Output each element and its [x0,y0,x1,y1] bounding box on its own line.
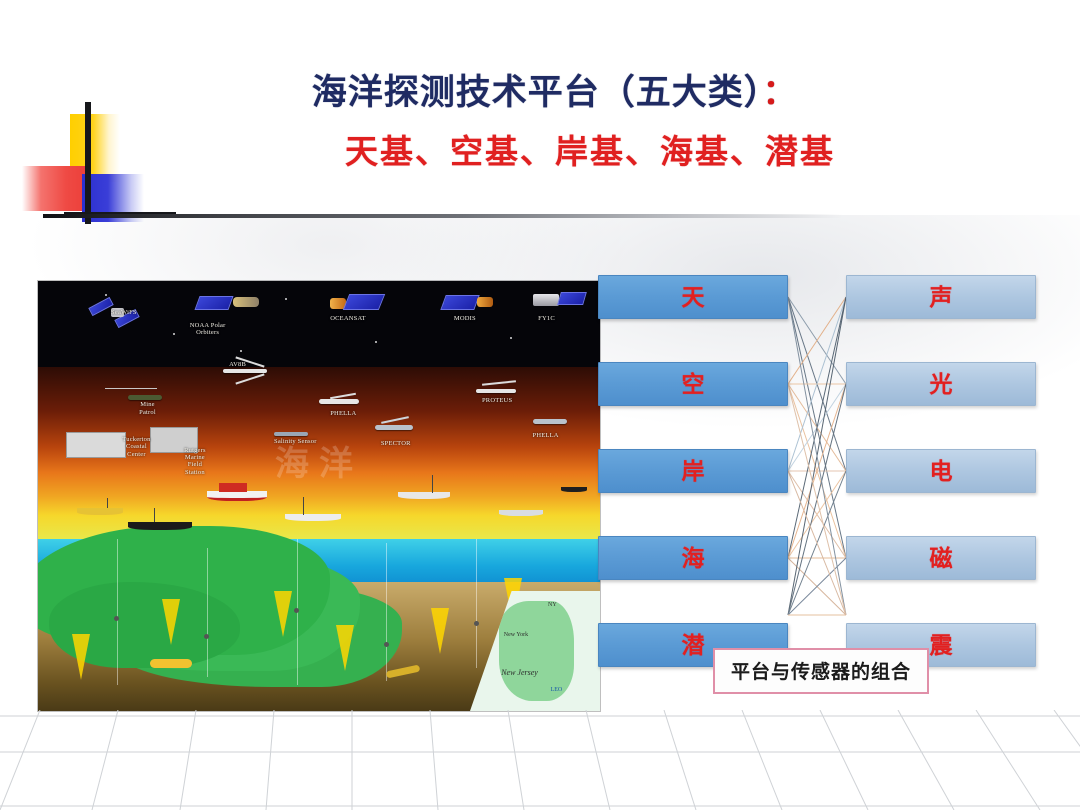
platform-box-hai[interactable]: 海 [598,536,788,580]
acoustic-beam [336,625,354,671]
acoustic-beam [72,634,90,680]
satellite-fy1c [533,290,589,316]
aircraft-proteus [476,389,516,393]
map-label-leo: LEO [551,687,563,693]
acoustic-beam [162,599,180,645]
platform-label: 岸 [682,460,705,483]
label-mine-patrol: Mine Patrol [139,401,156,416]
aircraft-phella [319,399,359,404]
sensor-label: 光 [930,373,953,396]
label-av8b: AV8B [229,361,246,368]
sensor-box-sheng[interactable]: 声 [846,275,1036,319]
satellite-body [533,294,559,306]
satellite-noaa-polar-orbiters [195,294,265,320]
platform-label: 海 [682,547,705,570]
mooring-line [117,539,118,685]
mooring-line [207,548,208,677]
map-label-new-york-region: New York [504,632,528,638]
label-oceansat: OCEANSAT [330,315,366,322]
boat-hull [77,508,123,515]
boat-hull [285,514,341,521]
sensor-label: 磁 [930,547,953,570]
solar-panel [195,296,234,310]
platform-label: 潜 [682,634,705,657]
mooring-line [476,539,477,668]
platform-box-tian[interactable]: 天 [598,275,788,319]
solar-panel [88,297,113,316]
helicopter-mine-patrol [128,395,162,400]
map-label-new-jersey: New Jersey [501,668,538,677]
title-divider [43,214,843,218]
sensor-column: 声 光 电 磁 震 [846,275,1036,667]
boat-mast [107,498,108,508]
coastal-center-building [66,432,126,458]
platform-sensor-diagram: 天 空 岸 海 潜 声 光 电 磁 震 平台与传感器的组合 [598,275,1038,695]
acoustic-beam [274,591,292,637]
label-phella: PHELLA [330,410,356,417]
boat-yellow [77,505,123,515]
sensor-node [204,634,209,639]
star-dot [510,337,512,339]
sensor-node [474,621,479,626]
perspective-floor-grid [0,710,1080,810]
label-seawifs: SeaWiFS [111,309,137,316]
platform-box-an[interactable]: 岸 [598,449,788,493]
satellite-body [477,297,493,307]
title-block: 海洋探测技术平台（五大类）： 天基、空基、岸基、海基、潜基 [0,72,1080,174]
aircraft-av8b [223,369,267,373]
sensor-box-dian[interactable]: 电 [846,449,1036,493]
label-modis: MODIS [454,315,476,322]
page-title: 海洋探测技术平台（五大类）： [0,72,1080,114]
sensor-box-guang[interactable]: 光 [846,362,1036,406]
page-subtitle: 天基、空基、岸基、海基、潜基 [0,134,1080,174]
floor-grid-svg [0,710,1080,810]
boat-dark [128,518,192,530]
boat-hull [561,487,587,492]
page-title-text: 海洋探测技术平台（五大类） [312,73,763,112]
solar-panel [343,294,385,310]
mooring-line [386,543,387,681]
map-label-ny: NY [548,602,557,608]
platform-label: 天 [682,286,705,309]
sensor-box-ci[interactable]: 磁 [846,536,1036,580]
rotor-blade [105,388,157,390]
label-proteus: PROTEUS [482,397,512,404]
solar-panel [440,295,479,310]
label-fy1c: FY1C [538,315,555,322]
sensor-label: 电 [930,460,953,483]
page-title-colon: ： [762,73,798,112]
aircraft-phella-2 [533,419,567,424]
diagram-caption: 平台与传感器的组合 [713,648,929,694]
platform-column: 天 空 岸 海 潜 [598,275,788,667]
solar-panel [557,292,587,305]
boat-hull [128,522,192,530]
aircraft-spector [375,425,413,430]
label-noaa-polar-orbiters: NOAA Polar Orbiters [190,322,226,337]
sensor-label: 震 [930,634,953,657]
survey-vessel [499,505,543,516]
watermark-text: 海洋 [139,436,499,505]
platform-label: 空 [682,373,705,396]
satellite-body [233,297,259,307]
slide-canvas: 海洋探测技术平台（五大类）： 天基、空基、岸基、海基、潜基 [0,0,1080,810]
map-landmass [499,601,574,702]
boat-mast [154,508,155,522]
platform-box-kong[interactable]: 空 [598,362,788,406]
ocean-observing-illustration: NY New York New Jersey LEO SeaWiFS NOAA … [38,281,600,711]
boat-hull [499,510,543,516]
small-craft [561,483,587,492]
fishing-vessel [285,509,341,521]
label-phella-2: PHELLA [533,432,559,439]
star-dot [173,333,175,335]
acoustic-beam [431,608,449,654]
auv-glider [150,659,192,668]
sensor-label: 声 [930,286,953,309]
